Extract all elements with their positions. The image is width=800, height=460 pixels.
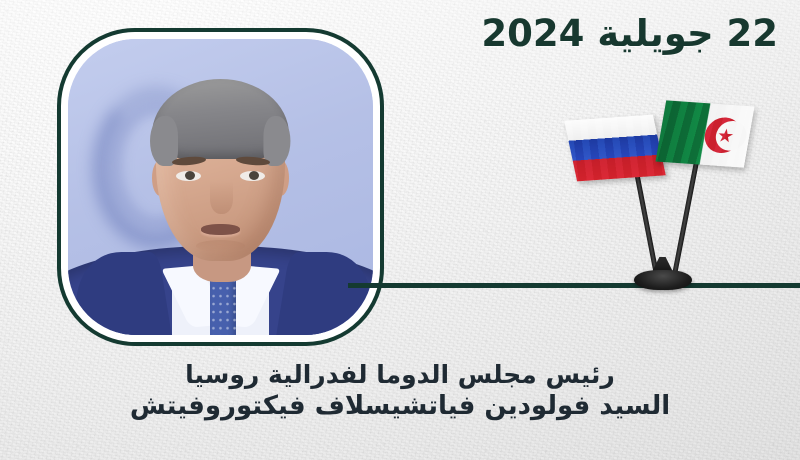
caption-line-title: رئيس مجلس الدوما لفدرالية روسيا: [0, 360, 800, 391]
portrait-photo: [68, 39, 373, 335]
desk-flags-group: [575, 95, 750, 290]
date-label: 22 جويلية 2024: [481, 12, 778, 55]
chin: [196, 240, 245, 252]
flag-russia-icon: [564, 115, 666, 182]
flag-fold-shading: [655, 100, 754, 167]
flag-stand-base: [634, 270, 692, 290]
caption-line-name: السيد فولودين فياتشيسلاف فيكتوروفيتش: [0, 391, 800, 423]
flag-fold-shading: [564, 115, 666, 182]
nose: [210, 181, 233, 214]
flag-algeria-icon: [655, 100, 754, 167]
hair-side-left: [150, 116, 177, 166]
caption-block: رئيس مجلس الدوما لفدرالية روسيا السيد فو…: [0, 360, 800, 422]
eye-left: [176, 171, 200, 181]
mouth: [201, 224, 241, 235]
announcement-card: 22 جويلية 2024: [0, 0, 800, 460]
portrait-frame: [57, 28, 384, 346]
necktie: [210, 276, 236, 335]
eye-right: [240, 171, 264, 181]
